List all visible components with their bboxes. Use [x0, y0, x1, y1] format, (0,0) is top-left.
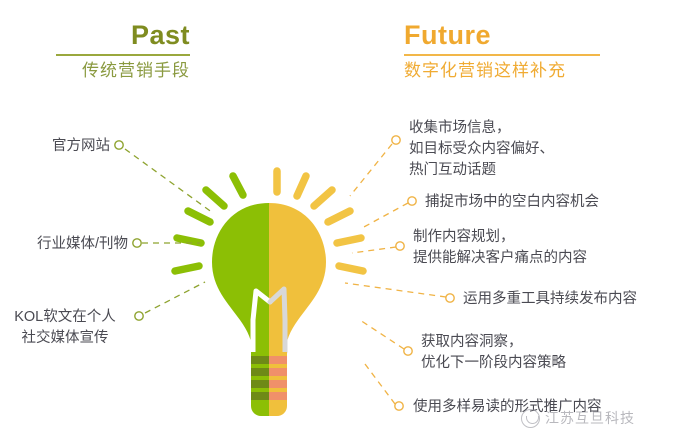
ray-green-1: [233, 176, 243, 195]
ray-yellow-4: [328, 211, 350, 222]
ray-yellow-5: [337, 238, 361, 243]
infographic-canvas: Past 传统营销手段 Future 数字化营销这样补充: [0, 0, 679, 444]
ray-green-4: [177, 238, 201, 243]
connector-dot-left-3: [135, 312, 143, 320]
connector-dot-right-1: [392, 136, 400, 144]
watermark: 江苏互旦科技: [521, 408, 635, 428]
ray-green-3: [188, 211, 210, 222]
right-label-5: 获取内容洞察， 优化下一阶段内容策略: [421, 332, 676, 374]
connectors-left-group: [125, 149, 213, 313]
right-label-1: 收集市场信息， 如目标受众内容偏好、 热门互动话题: [409, 118, 664, 181]
ray-yellow-6: [339, 266, 363, 271]
connector-dot-right-4: [446, 294, 454, 302]
connector-dot-right-2: [408, 197, 416, 205]
ray-yellow-3: [314, 190, 332, 206]
connector-dot-left-2: [133, 239, 141, 247]
left-label-3: KOL软文在个人 社交媒体宣传: [0, 307, 130, 349]
connector-right-1: [350, 144, 392, 196]
right-label-2: 捕捉市场中的空白内容机会: [425, 192, 675, 213]
watermark-logo-icon: [521, 409, 540, 428]
connector-left-3: [145, 282, 205, 313]
connector-dot-right-5: [404, 347, 412, 355]
right-label-3: 制作内容规划， 提供能解决客户痛点的内容: [413, 227, 671, 269]
ray-yellow-2: [297, 176, 306, 196]
ray-green-2: [206, 190, 224, 206]
bulb-base: [251, 352, 287, 416]
lightbulb-illustration: [0, 0, 679, 444]
connector-dots-left: [115, 141, 143, 320]
connector-right-2: [362, 203, 408, 228]
connector-right-3: [352, 247, 396, 253]
ray-green-5: [175, 266, 199, 271]
bulb-body: [212, 203, 326, 416]
connector-left-1: [125, 149, 213, 213]
watermark-text: 江苏互旦科技: [545, 408, 635, 428]
connector-dot-right-6: [395, 402, 403, 410]
connector-right-6: [362, 360, 395, 404]
connector-right-4: [345, 283, 446, 297]
connector-right-5: [360, 320, 404, 349]
left-label-2: 行业媒体/刊物: [0, 234, 128, 255]
connector-dot-right-3: [396, 242, 404, 250]
connector-dot-left-1: [115, 141, 123, 149]
bulb-glass-left: [212, 203, 269, 352]
bulb-glass-right: [269, 203, 326, 352]
right-label-4: 运用多重工具持续发布内容: [463, 289, 678, 310]
left-label-1: 官方网站: [0, 136, 110, 157]
